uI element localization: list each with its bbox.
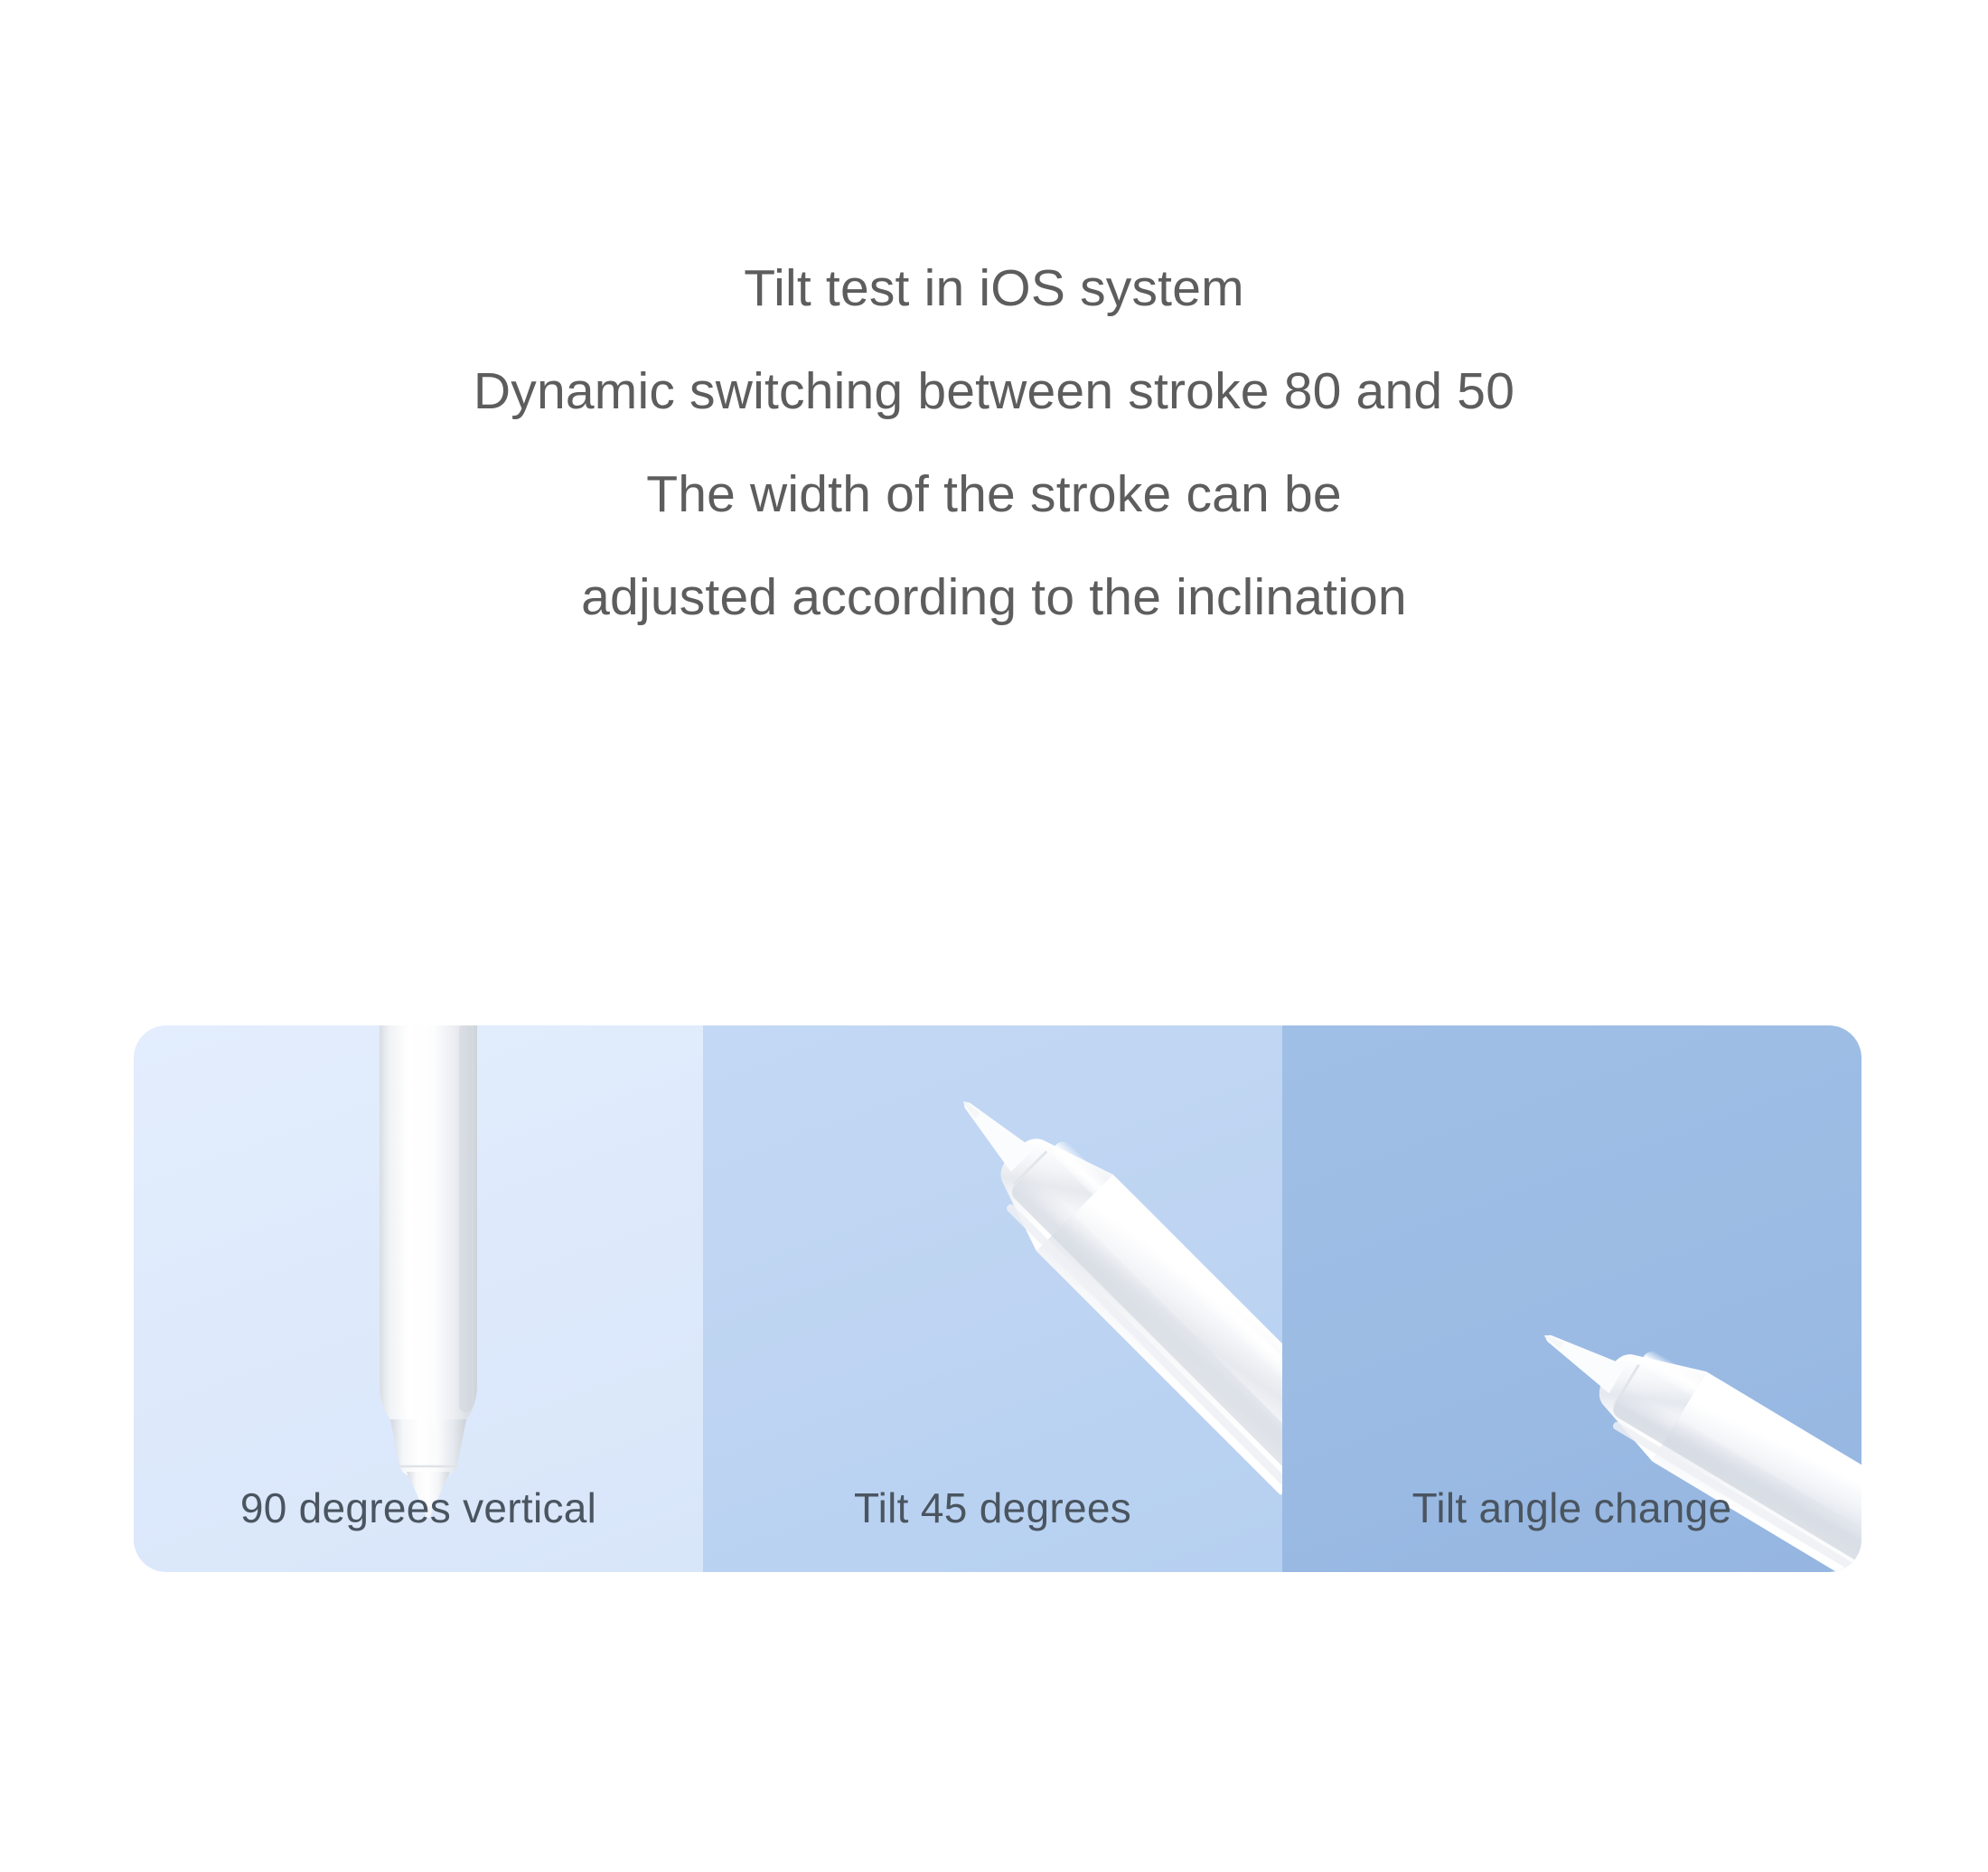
headline-line-2: Dynamic switching between stroke 80 and … [0,340,1988,443]
headline-line-3: The width of the stroke can be [0,443,1988,546]
panel-label-90-degrees-vertical: 90 degrees vertical [134,1484,703,1532]
stylus-vertical-icon [347,1025,510,1521]
panel-tilt-angle-change: Tilt angle change [1282,1025,1861,1572]
headline-line-1: Tilt test in iOS system [0,237,1988,340]
headline-line-4: adjusted according to the inclination [0,546,1988,649]
panel-90-degrees-vertical: 90 degrees vertical [134,1025,703,1572]
headline-block: Tilt test in iOS system Dynamic switchin… [0,237,1988,649]
panel-label-tilt-angle-change: Tilt angle change [1282,1484,1861,1532]
stylus-tilted-45-icon [779,1025,1282,1549]
panel-label-tilt-45-degrees: Tilt 45 degrees [703,1484,1282,1532]
tilt-demo-panel-strip: 90 degrees vertical [134,1025,1861,1572]
panel-tilt-45-degrees: Tilt 45 degrees [703,1025,1282,1572]
